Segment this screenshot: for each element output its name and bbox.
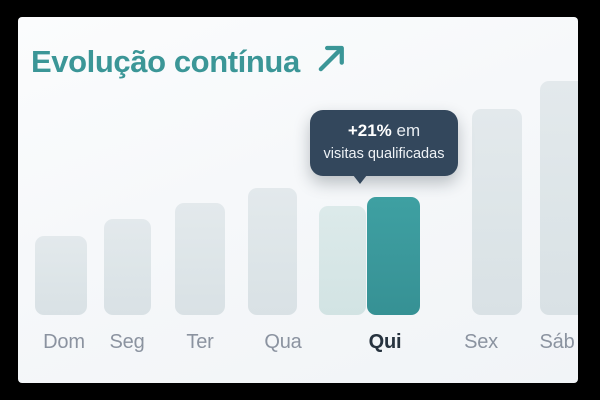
axis-label-dom[interactable]: Dom	[43, 331, 85, 354]
bar-sex[interactable]	[472, 109, 522, 315]
screenshot-stage: Evolução contínua Dom	[0, 0, 600, 400]
axis-label-qui[interactable]: Qui	[369, 331, 402, 354]
bar-dom[interactable]	[35, 236, 87, 315]
bar-chart-plot: Dom Seg Ter Qua Qui Sex Sáb +21% em visi…	[18, 17, 578, 383]
bar-qua[interactable]	[248, 188, 297, 315]
tooltip-headline: +21% em	[320, 121, 448, 141]
axis-label-ter[interactable]: Ter	[186, 331, 213, 354]
axis-label-seg[interactable]: Seg	[110, 331, 145, 354]
tooltip-pointer-icon	[353, 175, 367, 184]
bar-qui-accent[interactable]	[367, 197, 420, 315]
bar-sab[interactable]	[540, 81, 578, 315]
tooltip-metric: visitas qualificadas	[320, 145, 448, 163]
bar-qui-soft[interactable]	[319, 206, 366, 315]
axis-label-qua[interactable]: Qua	[264, 331, 301, 354]
chart-card: Evolução contínua Dom	[18, 17, 578, 383]
axis-label-sex[interactable]: Sex	[464, 331, 498, 354]
bar-seg[interactable]	[104, 219, 151, 315]
axis-label-sab[interactable]: Sáb	[540, 331, 575, 354]
x-axis: Dom Seg Ter Qua Qui Sex Sáb	[18, 331, 578, 365]
chart-tooltip: +21% em visitas qualificadas	[310, 110, 458, 176]
tooltip-value: +21%	[348, 121, 392, 140]
bar-ter[interactable]	[175, 203, 225, 315]
tooltip-value-suffix: em	[397, 121, 421, 140]
